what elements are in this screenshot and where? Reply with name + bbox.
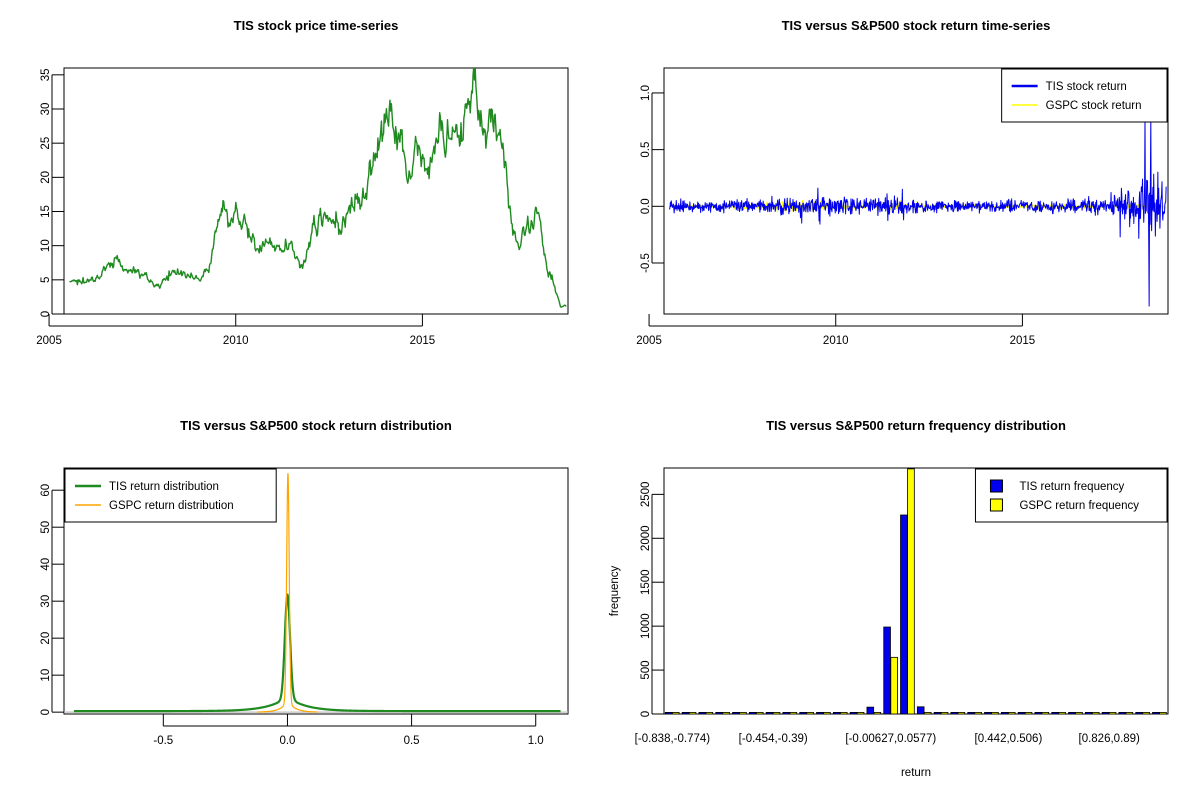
legend-tis-gspc-return-density: TIS return distributionGSPC return distr…	[65, 469, 276, 522]
y-tick-label: 15	[40, 205, 52, 218]
histogram-bar	[783, 712, 790, 714]
panel-tis-price-timeseries: TIS stock price time-series0510152025303…	[0, 0, 600, 400]
panel-price-content: TIS stock price time-series0510152025303…	[36, 18, 568, 347]
panel-title-tis-gspc-return-timeseries: TIS versus S&P500 stock return time-seri…	[782, 18, 1051, 33]
histogram-bar	[1025, 712, 1032, 714]
y-tick-label: 10	[40, 239, 52, 252]
histogram-bar	[1052, 712, 1059, 714]
histogram-bar	[1102, 712, 1109, 714]
x-tick-label: [0.442,0.506)	[975, 733, 1043, 745]
legend-label: GSPC stock return	[1046, 100, 1142, 112]
histogram-bar	[951, 712, 958, 714]
legend-swatch	[990, 480, 1002, 492]
y-tick-label: 0	[640, 711, 652, 717]
panel-title-tis-price-timeseries: TIS stock price time-series	[234, 18, 399, 33]
panel-tis-gspc-return-density: TIS versus S&P500 stock return distribut…	[0, 400, 600, 800]
histogram-bar	[1076, 712, 1083, 714]
histogram-bar	[1126, 712, 1133, 714]
x-tick-label: 2015	[410, 335, 436, 347]
legend-label: TIS return frequency	[1019, 481, 1124, 493]
histogram-bar	[1092, 712, 1099, 714]
series-TIS return distribution	[74, 595, 561, 711]
histogram-bar	[908, 469, 915, 714]
x-tick-label: 2005	[636, 335, 662, 347]
histogram-bar	[1109, 712, 1116, 714]
histogram-bar	[1018, 712, 1025, 714]
histogram-bar	[968, 712, 975, 714]
x-tick-label: -0.5	[153, 735, 173, 747]
legend-swatch	[990, 499, 1002, 511]
histogram-bar	[901, 515, 908, 714]
histogram-bar	[857, 712, 864, 714]
histogram-bar	[833, 712, 840, 714]
legend-label: TIS stock return	[1046, 81, 1127, 93]
y-tick-label: 60	[40, 484, 52, 497]
x-tick-label: 0.5	[404, 735, 420, 747]
histogram-bar	[766, 712, 773, 714]
histogram-bar	[672, 712, 679, 714]
legend-label: GSPC return frequency	[1019, 500, 1139, 512]
panel-return-dens-svg: TIS versus S&P500 stock return distribut…	[0, 400, 600, 800]
x-tick-label: [-0.00627,0.0577)	[845, 733, 936, 745]
y-tick-label: 35	[40, 68, 52, 81]
x-tick-label: 2010	[823, 335, 849, 347]
y-tick-label: 0.5	[640, 142, 652, 158]
y-tick-label: 25	[40, 137, 52, 150]
y-tick-label: 20	[40, 171, 52, 184]
y-tick-label: 1.0	[640, 85, 652, 101]
x-tick-label: [-0.454,-0.39)	[739, 733, 808, 745]
histogram-bar	[749, 712, 756, 714]
histogram-bar	[958, 712, 965, 714]
y-tick-label: 5	[40, 277, 52, 283]
histogram-bar	[1119, 712, 1126, 714]
legend-tis-gspc-return-timeseries: TIS stock returnGSPC stock return	[1002, 69, 1167, 122]
y-tick-label: 500	[640, 660, 652, 679]
histogram-bar	[934, 712, 941, 714]
y-tick-label: 0.0	[640, 198, 652, 214]
histogram-bar	[1143, 712, 1150, 714]
histogram-bar	[850, 712, 857, 714]
histogram-bar	[1136, 712, 1143, 714]
y-axis-title: frequency	[609, 566, 621, 617]
x-axis-title: return	[901, 767, 931, 779]
y-tick-label: 2500	[640, 482, 652, 508]
y-tick-label: -0.5	[640, 253, 652, 273]
x-tick-label: [-0.838,-0.774)	[635, 733, 711, 745]
legend-box	[65, 469, 276, 522]
histogram-bar	[1042, 712, 1049, 714]
panel-return-freq-content: TIS versus S&P500 return frequency distr…	[609, 418, 1168, 779]
panel-tis-gspc-return-timeseries: TIS versus S&P500 stock return time-seri…	[600, 0, 1200, 400]
legend-label: TIS return distribution	[109, 481, 219, 493]
histogram-bar	[867, 707, 874, 714]
histogram-bar	[840, 712, 847, 714]
x-tick-label: 2015	[1010, 335, 1036, 347]
panel-title-tis-gspc-return-density: TIS versus S&P500 stock return distribut…	[180, 418, 452, 433]
y-tick-label: 10	[40, 669, 52, 682]
histogram-bar	[975, 712, 982, 714]
histogram-bar	[1069, 712, 1076, 714]
histogram-bar	[790, 712, 797, 714]
panel-price-svg: TIS stock price time-series0510152025303…	[0, 0, 600, 400]
histogram-bar	[807, 712, 814, 714]
histogram-bar	[1160, 712, 1167, 714]
histogram-bar	[1059, 712, 1066, 714]
histogram-bar	[1085, 712, 1092, 714]
plot-grid: TIS stock price time-series0510152025303…	[0, 0, 1200, 800]
legend-box	[975, 469, 1167, 522]
x-tick-label: 0.0	[279, 735, 295, 747]
histogram-bar	[1008, 712, 1015, 714]
histogram-bar	[985, 712, 992, 714]
histogram-bar	[716, 712, 723, 714]
panel-return-dens-content: TIS versus S&P500 stock return distribut…	[40, 418, 568, 747]
x-tick-label: 2005	[36, 335, 62, 347]
legend-tis-gspc-return-frequency: TIS return frequencyGSPC return frequenc…	[975, 469, 1167, 522]
series-TIS stock price	[70, 67, 567, 308]
x-tick-label: [0.826,0.89)	[1079, 733, 1141, 745]
y-tick-label: 0	[40, 311, 52, 317]
y-tick-label: 1000	[640, 613, 652, 639]
series-TIS stock return	[670, 116, 1167, 306]
histogram-bar	[699, 712, 706, 714]
panel-return-freq-svg: TIS versus S&P500 return frequency distr…	[600, 400, 1200, 800]
panel-return-ts-content: TIS versus S&P500 stock return time-seri…	[636, 18, 1168, 347]
y-tick-label: 0	[40, 709, 52, 715]
y-tick-label: 20	[40, 632, 52, 645]
histogram-bar	[992, 712, 999, 714]
histogram-bar	[917, 707, 924, 714]
histogram-bar	[924, 712, 931, 714]
y-tick-label: 50	[40, 521, 52, 534]
y-tick-label: 2000	[640, 525, 652, 551]
histogram-bar	[682, 712, 689, 714]
histogram-bar	[733, 712, 740, 714]
histogram-bar	[1035, 712, 1042, 714]
histogram-bar	[740, 712, 747, 714]
y-tick-label: 1500	[640, 569, 652, 595]
histogram-bar	[773, 712, 780, 714]
histogram-bar	[817, 712, 824, 714]
histogram-bar	[874, 712, 881, 714]
histogram-bar	[706, 712, 713, 714]
histogram-bar	[1001, 712, 1008, 714]
histogram-bar	[1153, 712, 1160, 714]
legend-box	[1002, 69, 1167, 122]
y-tick-label: 30	[40, 595, 52, 608]
histogram-bar	[884, 627, 891, 714]
histogram-bar	[824, 712, 831, 714]
y-tick-label: 30	[40, 103, 52, 116]
y-tick-label: 40	[40, 558, 52, 571]
histogram-bar	[665, 712, 672, 714]
panel-return-ts-svg: TIS versus S&P500 stock return time-seri…	[600, 0, 1200, 400]
histogram-bar	[756, 712, 763, 714]
histogram-bar	[941, 712, 948, 714]
histogram-bar	[891, 657, 898, 714]
histogram-bar	[723, 712, 730, 714]
histogram-bar	[800, 712, 807, 714]
panel-tis-gspc-return-frequency: TIS versus S&P500 return frequency distr…	[600, 400, 1200, 800]
histogram-bar	[689, 712, 696, 714]
x-tick-label: 1.0	[528, 735, 544, 747]
legend-label: GSPC return distribution	[109, 500, 234, 512]
x-tick-label: 2010	[223, 335, 249, 347]
panel-title-tis-gspc-return-frequency: TIS versus S&P500 return frequency distr…	[766, 418, 1066, 433]
